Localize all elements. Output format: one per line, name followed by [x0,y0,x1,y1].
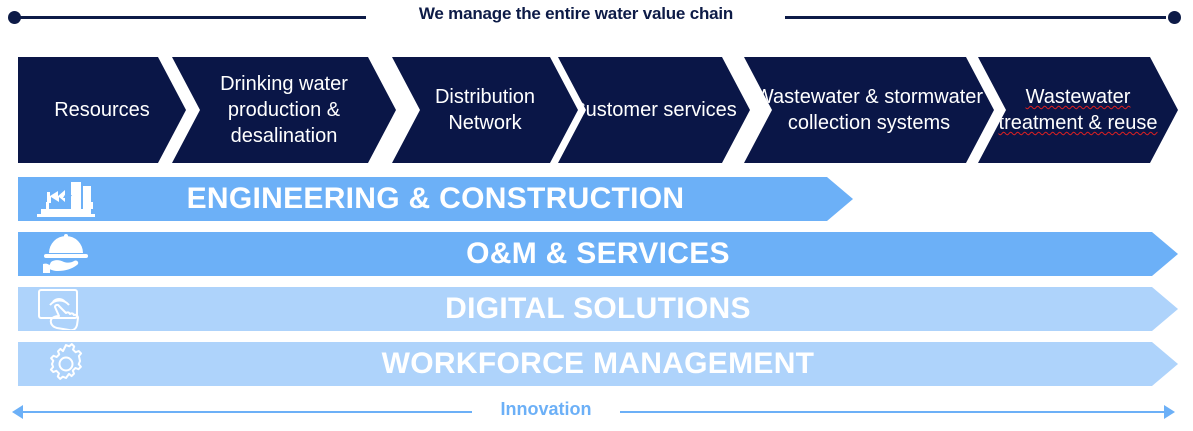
chevron-step-resources[interactable]: Resources [18,57,186,163]
factory-icon [18,180,114,218]
innovation-arrow-right-head [1164,405,1175,419]
capability-band-label: O&M & SERVICES [114,237,1178,271]
chevron-step-label: Wastewater & stormwater collection syste… [744,84,994,136]
value-chain-chevron-row: Resources Drinking water production & de… [0,57,1193,163]
innovation-arrow-left-line [22,411,472,413]
chevron-step-label: Wastewater treatment & reuse [978,84,1178,136]
innovation-arrow-row: Innovation [0,396,1193,428]
touchscreen-hand-icon [18,288,114,330]
innovation-label: Innovation [472,399,620,420]
header-band: We manage the entire water value chain [0,0,1193,34]
chevron-step-label: Resources [48,97,156,123]
header-right-dot [1168,11,1181,24]
capability-band-label: ENGINEERING & CONSTRUCTION [114,182,853,216]
capability-band-label: DIGITAL SOLUTIONS [114,292,1178,326]
capability-band-label: WORKFORCE MANAGEMENT [114,347,1178,381]
service-dome-hand-icon [18,233,114,275]
capability-band-workforce-management[interactable]: WORKFORCE MANAGEMENT [18,342,1178,386]
header-right-rule [785,16,1166,19]
gear-icon [18,342,114,386]
page-title: We manage the entire water value chain [366,4,786,24]
chevron-step-label: Distribution Network [392,84,578,136]
capability-band-om-services[interactable]: O&M & SERVICES [18,232,1178,276]
capability-band-digital-solutions[interactable]: DIGITAL SOLUTIONS [18,287,1178,331]
chevron-step-drinking-water-production[interactable]: Drinking water production & desalination [172,57,396,163]
chevron-step-wastewater-stormwater-collection[interactable]: Wastewater & stormwater collection syste… [744,57,994,163]
chevron-step-wastewater-treatment-reuse[interactable]: Wastewater treatment & reuse [978,57,1178,163]
chevron-step-label: Drinking water production & desalination [172,71,396,149]
chevron-step-customer-services[interactable]: Customer services [558,57,750,163]
capability-band-engineering-construction[interactable]: ENGINEERING & CONSTRUCTION [18,177,853,221]
innovation-arrow-right-line [620,411,1165,413]
header-left-rule [18,16,366,19]
chevron-step-label: Customer services [565,97,743,123]
chevron-step-distribution-network[interactable]: Distribution Network [392,57,578,163]
